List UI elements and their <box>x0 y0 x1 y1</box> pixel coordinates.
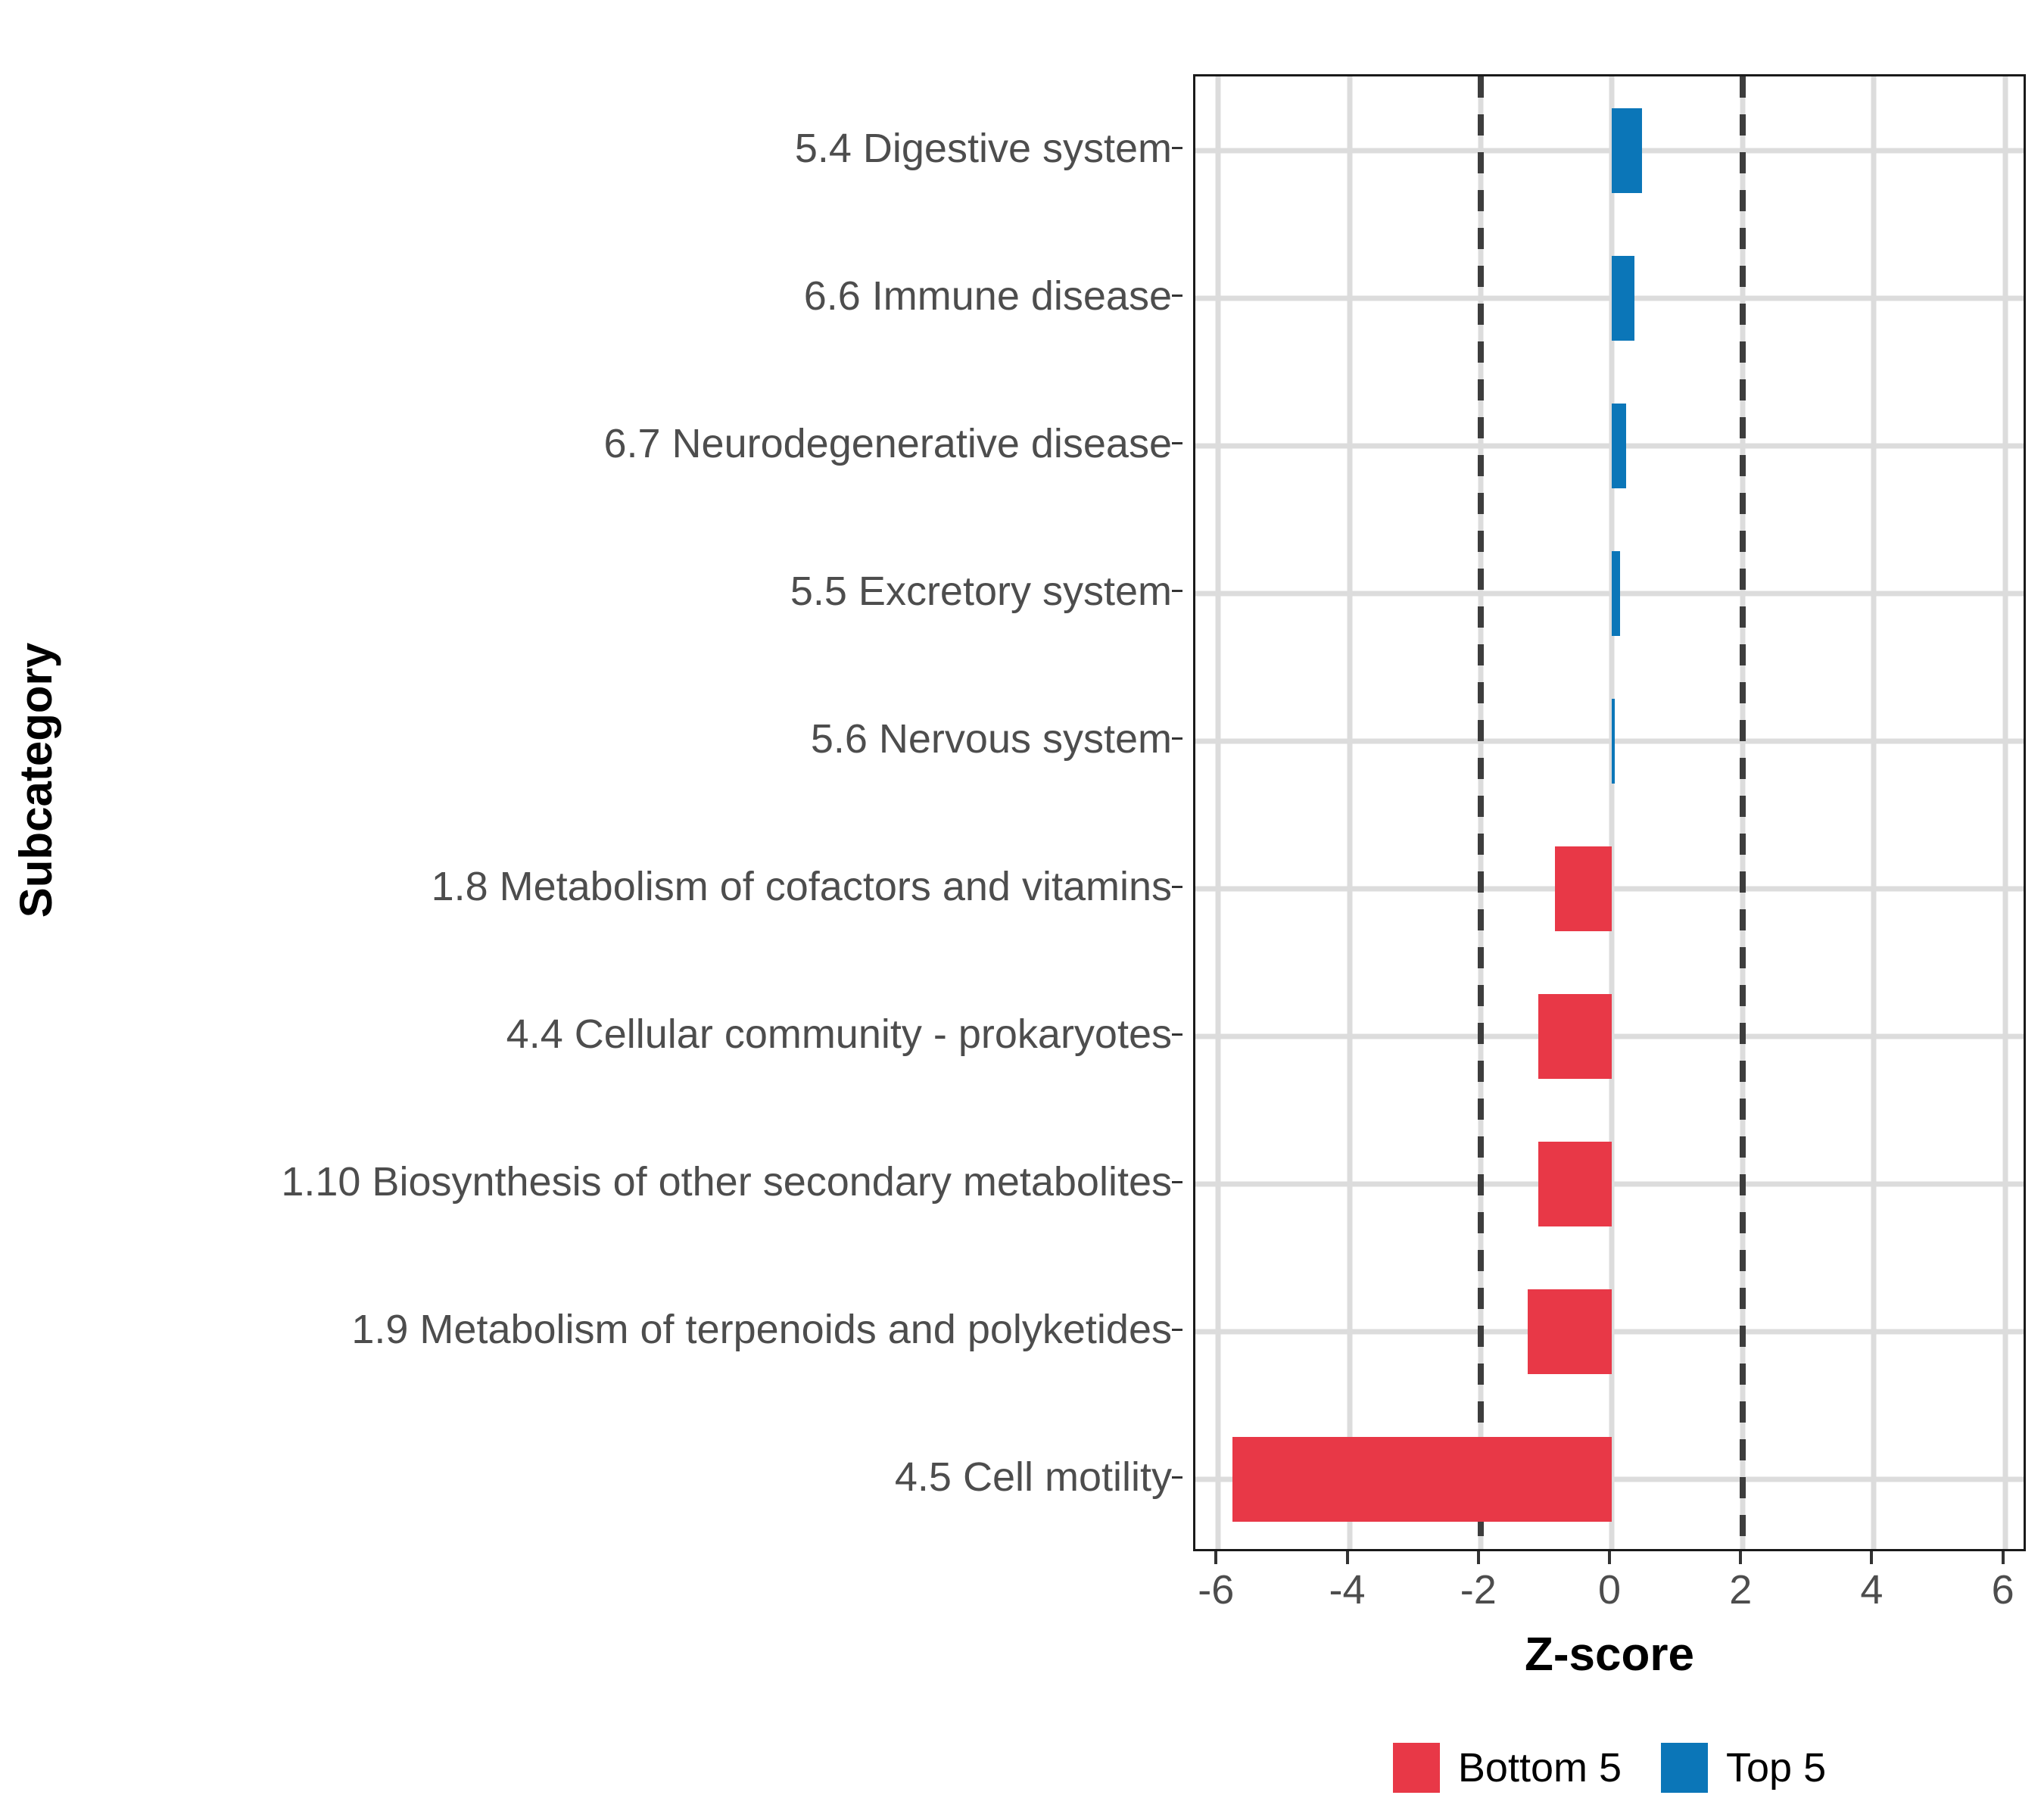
x-axis-tick-label: -2 <box>1460 1569 1497 1610</box>
legend-swatch <box>1393 1743 1440 1793</box>
y-axis-tick-label: 5.6 Nervous system <box>811 718 1172 759</box>
y-axis-tick-mark <box>1172 1033 1182 1036</box>
y-axis-tick: 1.8 Metabolism of cofactors and vitamins <box>83 856 1182 917</box>
bar <box>1538 1142 1612 1226</box>
y-axis-tick-mark <box>1172 442 1182 444</box>
threshold-line <box>1740 76 1746 1549</box>
y-axis-tick-label: 6.7 Neurodegenerative disease <box>603 423 1172 464</box>
x-axis-tick-mark <box>1608 1551 1611 1564</box>
x-axis-tick-label: 2 <box>1729 1569 1752 1610</box>
horizontal-gridline <box>1195 443 2024 448</box>
bar <box>1612 699 1615 784</box>
y-axis-tick-label: 6.6 Immune disease <box>804 276 1172 316</box>
y-axis-tick: 4.4 Cellular community - prokaryotes <box>83 1004 1182 1064</box>
y-axis-tick-label: 5.5 Excretory system <box>790 571 1172 612</box>
chart-legend: Bottom 5Top 5 <box>1193 1730 2026 1806</box>
x-axis-tick-mark <box>1214 1551 1217 1564</box>
y-axis-tick-mark <box>1172 1181 1182 1183</box>
horizontal-gridline <box>1195 591 2024 596</box>
y-axis-tick-label: 1.9 Metabolism of terpenoids and polyket… <box>351 1309 1172 1350</box>
threshold-line <box>1478 76 1484 1549</box>
x-axis-tick-mark <box>2002 1551 2005 1564</box>
y-axis-tick-mark <box>1172 886 1182 888</box>
bar <box>1612 551 1620 636</box>
bar <box>1555 846 1612 931</box>
y-axis-tick-mark <box>1172 1476 1182 1479</box>
y-axis-tick-label: 1.10 Biosynthesis of other secondary met… <box>281 1161 1172 1202</box>
y-axis-tick: 4.5 Cell motility <box>83 1447 1182 1507</box>
y-axis-tick-label: 4.5 Cell motility <box>895 1457 1172 1498</box>
x-axis-tick-mark <box>1870 1551 1873 1564</box>
horizontal-gridline <box>1195 295 2024 301</box>
y-axis-tick-mark <box>1172 590 1182 592</box>
y-axis-title: Subcategory <box>0 0 73 1560</box>
y-axis-tick-mark <box>1172 737 1182 740</box>
x-axis-tick-mark <box>1739 1551 1742 1564</box>
y-axis-tick-labels: 5.4 Digestive system6.6 Immune disease6.… <box>83 74 1182 1551</box>
bar <box>1612 404 1626 488</box>
y-axis-tick: 1.9 Metabolism of terpenoids and polyket… <box>83 1299 1182 1360</box>
horizontal-gridline <box>1195 738 2024 743</box>
bar <box>1538 994 1612 1079</box>
y-axis-tick-label: 1.8 Metabolism of cofactors and vitamins <box>432 866 1172 907</box>
legend-item[interactable]: Top 5 <box>1661 1743 1826 1793</box>
legend-item[interactable]: Bottom 5 <box>1393 1743 1622 1793</box>
horizontal-gridline <box>1195 148 2024 153</box>
y-axis-tick-mark <box>1172 295 1182 297</box>
y-axis-tick: 5.6 Nervous system <box>83 709 1182 769</box>
y-axis-tick: 6.6 Immune disease <box>83 266 1182 326</box>
bar <box>1528 1289 1612 1374</box>
x-axis-tick-label: 4 <box>1860 1569 1883 1610</box>
x-axis-tick-label: 6 <box>1992 1569 2014 1610</box>
bar <box>1612 256 1634 341</box>
y-axis-tick-label: 5.4 Digestive system <box>795 128 1172 169</box>
bar <box>1232 1437 1612 1522</box>
y-axis-tick: 5.5 Excretory system <box>83 561 1182 622</box>
chart-root: Subcategory 5.4 Digestive system6.6 Immu… <box>0 0 2044 1817</box>
y-axis-tick: 5.4 Digestive system <box>83 118 1182 179</box>
legend-label: Bottom 5 <box>1458 1747 1622 1788</box>
y-axis-tick-mark <box>1172 1329 1182 1331</box>
x-axis-tick-label: -6 <box>1198 1569 1234 1610</box>
x-axis-tick-label: -4 <box>1329 1569 1366 1610</box>
y-axis-tick: 1.10 Biosynthesis of other secondary met… <box>83 1152 1182 1212</box>
legend-label: Top 5 <box>1726 1747 1826 1788</box>
legend-swatch <box>1661 1743 1708 1793</box>
x-axis-title: Z-score <box>1193 1628 2026 1681</box>
y-axis-tick: 6.7 Neurodegenerative disease <box>83 413 1182 474</box>
y-axis-title-text: Subcategory <box>11 642 63 917</box>
y-axis-tick-label: 4.4 Cellular community - prokaryotes <box>506 1014 1172 1055</box>
bar <box>1612 108 1642 193</box>
y-axis-tick-mark <box>1172 147 1182 149</box>
x-axis-tick-mark <box>1346 1551 1349 1564</box>
x-axis-tick-mark <box>1477 1551 1480 1564</box>
x-axis-tick-label: 0 <box>1598 1569 1621 1610</box>
plot-panel <box>1193 74 2026 1551</box>
